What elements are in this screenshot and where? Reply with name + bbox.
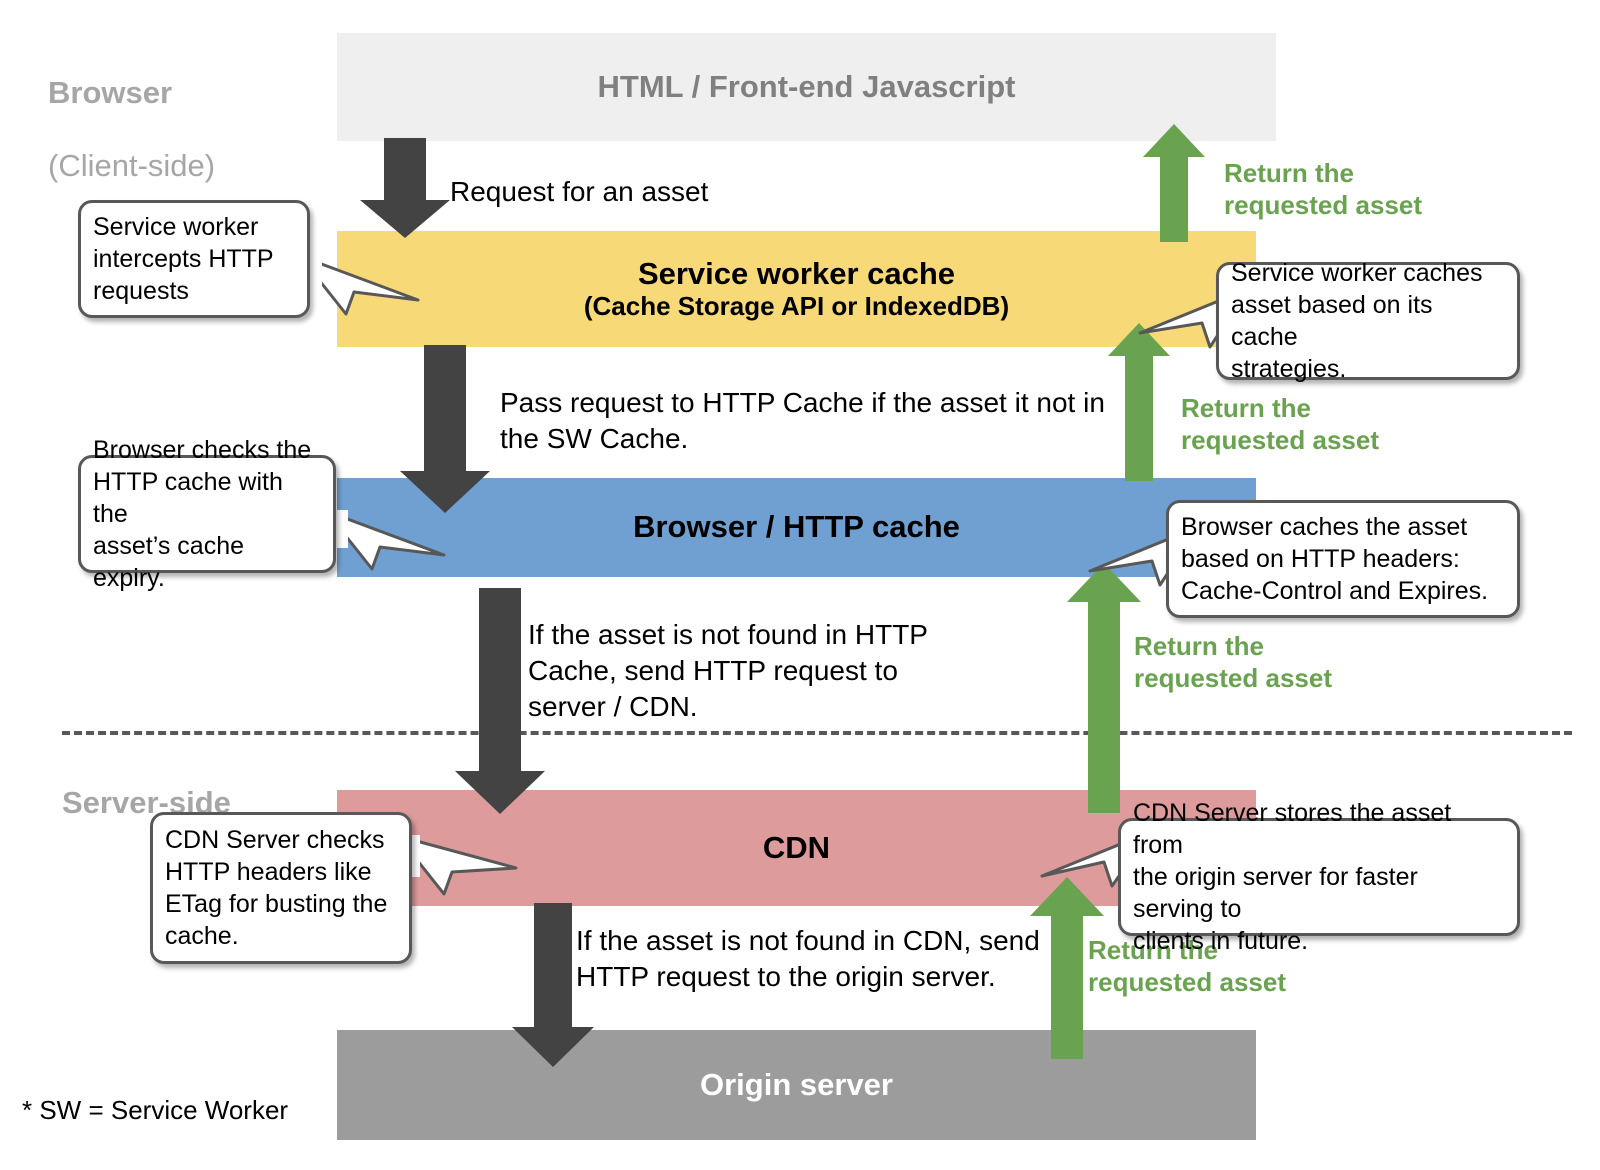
zone-label-client: Browser (Client-side): [48, 38, 215, 184]
zone-client-subtitle: (Client-side): [48, 148, 215, 183]
cache-flow-diagram: Browser (Client-side) Server-side HTML /…: [0, 0, 1600, 1170]
callout-text-browser-caches: Browser caches the asset based on HTTP h…: [1181, 511, 1505, 607]
layer-cdn-title: CDN: [763, 831, 830, 866]
return-caption-http-to-sw: Return the requested asset: [1181, 393, 1379, 456]
flow-caption-send-to-cdn: If the asset is not found in HTTP Cache,…: [528, 617, 928, 724]
return-arrow-sw-to-html: [1143, 124, 1205, 242]
callout-sw-caches[interactable]: Service worker caches asset based on its…: [1140, 262, 1520, 384]
layer-sw-subtitle: (Cache Storage API or IndexedDB): [584, 292, 1009, 321]
callout-cdn-checks[interactable]: CDN Server checks HTTP headers like ETag…: [150, 812, 490, 970]
layer-html-title: HTML / Front-end Javascript: [598, 70, 1016, 105]
callout-text-sw-intercept: Service worker intercepts HTTP requests: [93, 211, 295, 307]
callout-bubble-sw-intercept: Service worker intercepts HTTP requests: [78, 200, 310, 318]
callout-bubble-browser-checks: Browser checks the HTTP cache with the a…: [78, 455, 336, 573]
flow-caption-pass-to-http: Pass request to HTTP Cache if the asset …: [500, 385, 1105, 457]
callout-tail-cdn-checks: [398, 832, 518, 894]
layer-sw-title: Service worker cache: [584, 257, 1009, 292]
layer-origin-title: Origin server: [700, 1068, 893, 1103]
flow-caption-request-asset: Request for an asset: [450, 174, 708, 210]
layer-http-title: Browser / HTTP cache: [633, 510, 960, 545]
callout-text-browser-checks: Browser checks the HTTP cache with the a…: [93, 434, 321, 594]
callout-text-sw-caches: Service worker caches asset based on its…: [1231, 257, 1505, 385]
callout-tail-browser-checks: [326, 507, 446, 569]
flow-caption-send-to-origin: If the asset is not found in CDN, send H…: [576, 923, 1040, 995]
callout-text-cdn-stores: CDN Server stores the asset from the ori…: [1133, 797, 1505, 957]
zone-label-server: Server-side: [62, 748, 231, 821]
callout-browser-checks[interactable]: Browser checks the HTTP cache with the a…: [78, 455, 408, 580]
layer-origin-server[interactable]: Origin server: [337, 1030, 1256, 1140]
callout-bubble-cdn-checks: CDN Server checks HTTP headers like ETag…: [150, 812, 412, 964]
callout-bubble-browser-caches: Browser caches the asset based on HTTP h…: [1166, 500, 1520, 618]
footnote-sw-abbreviation: * SW = Service Worker: [22, 1095, 288, 1126]
return-caption-cdn-to-http: Return the requested asset: [1134, 631, 1332, 694]
callout-browser-caches[interactable]: Browser caches the asset based on HTTP h…: [1090, 500, 1520, 622]
callout-bubble-cdn-stores: CDN Server stores the asset from the ori…: [1118, 818, 1520, 936]
return-caption-sw-to-html: Return the requested asset: [1224, 158, 1422, 221]
request-arrow-sw-to-http: [400, 345, 490, 513]
callout-bubble-sw-caches: Service worker caches asset based on its…: [1216, 262, 1520, 380]
layer-html-frontend-javascript[interactable]: HTML / Front-end Javascript: [337, 33, 1276, 141]
callout-sw-intercept[interactable]: Service worker intercepts HTTP requests: [78, 200, 388, 325]
callout-cdn-stores[interactable]: CDN Server stores the asset from the ori…: [1042, 818, 1520, 940]
client-server-divider: [62, 731, 1572, 735]
callout-tail-sw-intercept: [300, 252, 420, 314]
zone-client-title: Browser: [48, 75, 172, 110]
callout-text-cdn-checks: CDN Server checks HTTP headers like ETag…: [165, 824, 397, 952]
